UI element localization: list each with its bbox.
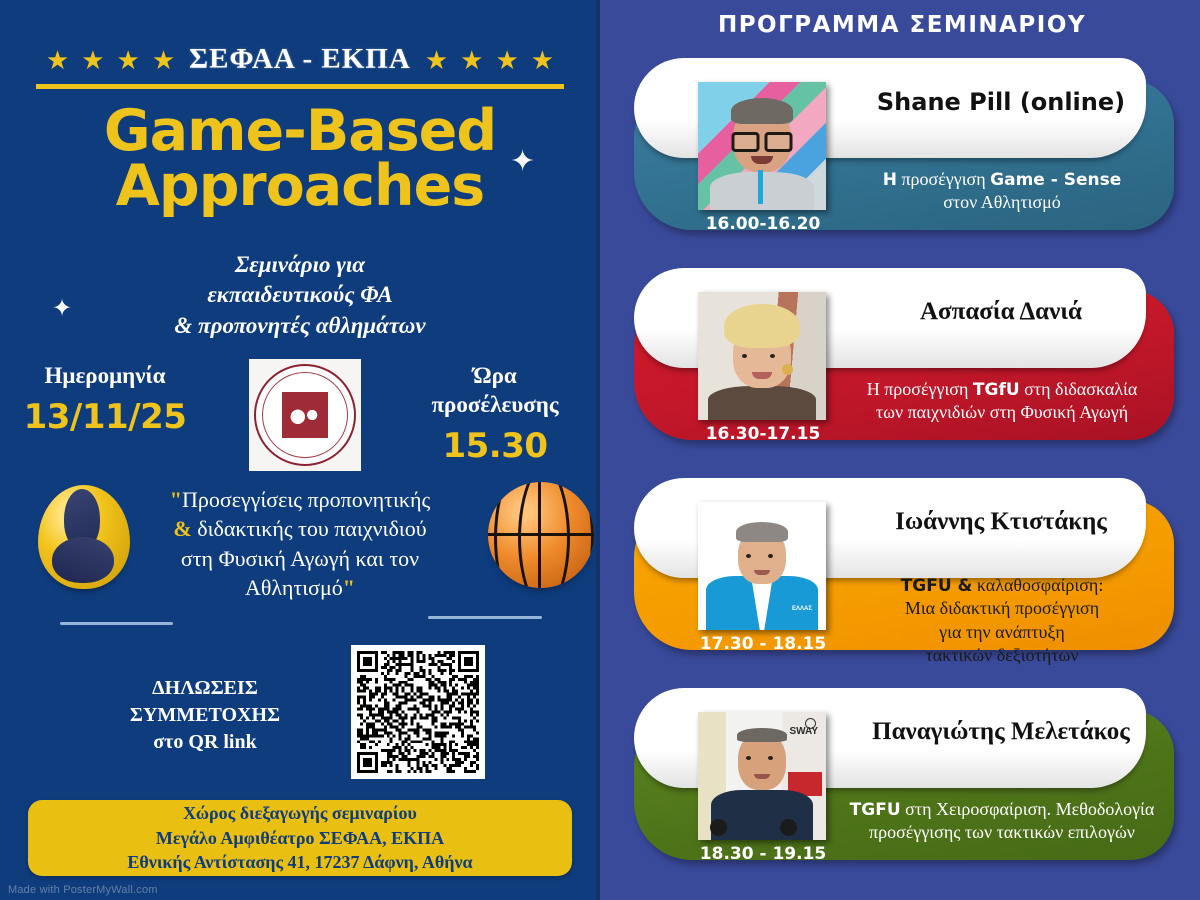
desc-line-2: προσέγγισης των τακτικών επιλογών: [869, 822, 1135, 842]
date-block: Ημερομηνία 13/11/25: [10, 362, 200, 437]
desc-line-2: στον Αθλητισμό: [943, 192, 1061, 212]
stars-right-icon: ★★★★: [425, 47, 554, 73]
quote-line-1: Προσεγγίσεις προπονητικής: [182, 487, 430, 512]
basketball-icon: [488, 482, 594, 588]
speaker-photo: [698, 292, 826, 420]
desc-line-4: τακτικών δεξιοτήτων: [926, 645, 1079, 665]
poster-root: ★★★★ ΣΕΦΑΑ - ΕΚΠΑ ★★★★ Game-Based Approa…: [0, 0, 1200, 900]
subtitle: Σεμινάριο για εκπαιδευτικούς ΦΑ & προπον…: [0, 250, 600, 341]
session-card-2[interactable]: 16.30-17.15 Ασπασία Δανιά Η προσέγγιση T…: [626, 268, 1182, 448]
speaker-name: Παναγιώτης Μελετάκος: [836, 718, 1166, 746]
quote-line-2: διδακτικής του παιχνιδιού: [192, 516, 427, 541]
desc-line-2: Μια διδακτική προσέγγιση: [905, 598, 1099, 618]
quote-open-mark: ": [170, 487, 182, 512]
subtitle-line-1: Σεμινάριο για: [0, 250, 600, 280]
divider-left: [60, 622, 173, 625]
time-value: 15.30: [400, 426, 590, 466]
aspasia-dania-portrait: [698, 292, 826, 420]
session-time: 18.30 - 19.15: [678, 844, 848, 864]
speaker-name: Shane Pill (online): [836, 88, 1166, 116]
session-time: 16.30-17.15: [678, 424, 848, 444]
session-time: 17.30 - 18.15: [678, 634, 848, 654]
seal-ring: [254, 364, 356, 466]
department-name: ΣΕΦΑΑ - ΕΚΠΑ: [189, 43, 411, 76]
registration-label-line-3: στο QR link: [110, 729, 300, 756]
sparkle-icon: ✦: [510, 147, 535, 177]
qr-code[interactable]: [351, 645, 485, 779]
desc-mid: στη διδασκαλία: [1020, 379, 1138, 399]
sparkle-icon: ✦: [52, 297, 72, 321]
session-description: TGFU στη Χειροσφαίριση. Μεθοδολογία προσ…: [826, 798, 1178, 845]
seminar-quote: "Προσεγγίσεις προπονητικής & διδακτικής …: [140, 485, 460, 603]
venue-banner: Χώρος διεξαγωγής σεμιναρίου Μεγάλο Αμφιθ…: [28, 800, 572, 876]
stars-left-icon: ★★★★: [46, 47, 175, 73]
desc-bold: TGFU: [850, 800, 901, 820]
desc-bold: TGfU: [973, 380, 1020, 400]
subtitle-line-2: εκπαιδευτικούς ΦΑ: [0, 280, 600, 310]
desc-pre: Η προσέγγιση: [867, 379, 973, 399]
ioannis-ktistakis-portrait: ΕΛΛΑΣ: [698, 502, 826, 630]
session-time: 16.00-16.20: [678, 214, 848, 234]
date-label: Ημερομηνία: [10, 362, 200, 391]
handball-icon: [38, 485, 130, 589]
quote-line-3: στη Φυσική Αγωγή και τον: [181, 546, 419, 571]
registration-label: ΔΗΛΩΣΕΙΣ ΣΥΜΜΕΤΟΧΗΣ στο QR link: [110, 675, 300, 756]
desc-bold: Game - Sense: [990, 170, 1121, 190]
session-description: TGFU & καλαθοσφαίριση: Μια διδακτική προ…: [826, 574, 1178, 668]
session-description: Η προσέγγιση Game - Sense στον Αθλητισμό: [826, 168, 1178, 215]
university-seal-logo: [249, 359, 361, 471]
subtitle-line-3: & προπονητές αθλημάτων: [0, 311, 600, 341]
time-block: Ώρα προσέλευσης 15.30: [400, 362, 590, 466]
registration-label-line-2: ΣΥΜΜΕΤΟΧΗΣ: [110, 702, 300, 729]
speaker-photo: [698, 82, 826, 210]
right-panel: ΠΡΟΓΡΑΜΜΑ ΣΕΜΙΝΑΡΙΟΥ 16.00-16.20 Shane P…: [604, 0, 1200, 900]
speaker-photo: SWAY: [698, 712, 826, 840]
session-card-3[interactable]: ΕΛΛΑΣ 17.30 - 18.15 Ιωάννης Κτιστάκης TG…: [626, 478, 1182, 658]
divider-right: [428, 616, 542, 619]
registration-label-line-1: ΔΗΛΩΣΕΙΣ: [110, 675, 300, 702]
panagiotis-meletakos-portrait: SWAY: [698, 712, 826, 840]
quote-ampersand: &: [173, 516, 191, 541]
desc-pre: Η: [883, 170, 897, 190]
program-title: ΠΡΟΓΡΑΜΜΑ ΣΕΜΙΝΑΡΙΟΥ: [604, 12, 1200, 38]
quote-close-mark: ": [343, 575, 355, 600]
desc-line-3: για την ανάπτυξη: [939, 622, 1065, 642]
department-header: ★★★★ ΣΕΦΑΑ - ΕΚΠΑ ★★★★: [0, 43, 600, 76]
desc-line-2: των παιχνιδιών στη Φυσική Αγωγή: [876, 402, 1128, 422]
venue-line-2: Μεγάλο Αμφιθέατρο ΣΕΦΑΑ, ΕΚΠΑ: [127, 826, 472, 850]
desc-mid: καλαθοσφαίριση:: [972, 575, 1103, 595]
speaker-photo: ΕΛΛΑΣ: [698, 502, 826, 630]
shane-pill-portrait: [698, 82, 826, 210]
desc-bold: TGFU &: [901, 576, 973, 596]
time-label-line-1: Ώρα: [400, 362, 590, 391]
time-label-line-2: προσέλευσης: [400, 391, 590, 420]
left-panel: ★★★★ ΣΕΦΑΑ - ΕΚΠΑ ★★★★ Game-Based Approa…: [0, 0, 600, 900]
date-value: 13/11/25: [10, 397, 200, 437]
venue-line-3: Εθνικής Αντίστασης 41, 17237 Δάφνη, Αθήν…: [127, 850, 472, 874]
venue-line-1: Χώρος διεξαγωγής σεμιναρίου: [127, 801, 472, 825]
session-card-4[interactable]: SWAY 18.30 - 19.15 Παναγιώτης Μελετάκος …: [626, 688, 1182, 868]
speaker-name: Ασπασία Δανιά: [836, 298, 1166, 326]
watermark-left: Made with PosterMyWall.com: [8, 884, 158, 896]
session-description: Η προσέγγιση TGfU στη διδασκαλία των παι…: [826, 378, 1178, 425]
speaker-name: Ιωάννης Κτιστάκης: [836, 508, 1166, 536]
desc-mid: προσέγγιση: [897, 169, 990, 189]
session-card-1[interactable]: 16.00-16.20 Shane Pill (online) Η προσέγ…: [626, 58, 1182, 238]
quote-line-4: Αθλητισμό: [245, 575, 343, 600]
seal-core: [278, 388, 332, 442]
gold-divider: [36, 84, 564, 89]
desc-mid: στη Χειροσφαίριση. Μεθοδολογία: [901, 799, 1155, 819]
